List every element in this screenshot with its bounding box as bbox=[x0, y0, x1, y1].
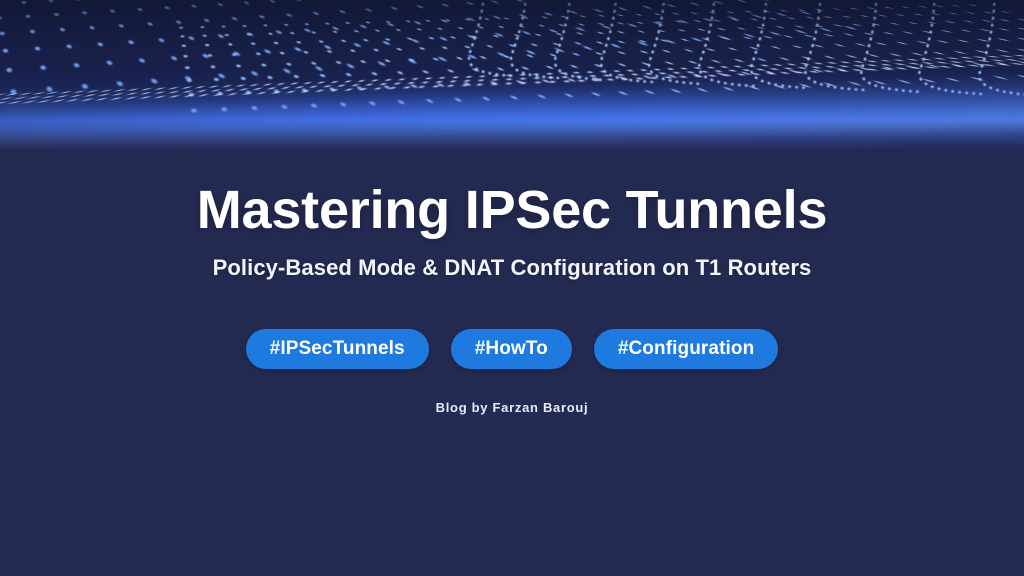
tag-ipsectunnels[interactable]: #IPSecTunnels bbox=[246, 329, 429, 369]
page-subtitle: Policy-Based Mode & DNAT Configuration o… bbox=[0, 255, 1024, 281]
page-title: Mastering IPSec Tunnels bbox=[0, 182, 1024, 238]
title-slide: Mastering IPSec Tunnels Policy-Based Mod… bbox=[0, 0, 1024, 576]
tag-list: #IPSecTunnels #HowTo #Configuration bbox=[0, 329, 1024, 369]
author-byline: Blog by Farzan Barouj bbox=[0, 400, 1024, 415]
tag-configuration[interactable]: #Configuration bbox=[594, 329, 779, 369]
tag-howto[interactable]: #HowTo bbox=[451, 329, 572, 369]
banner-fade bbox=[0, 120, 1024, 150]
content-block: Mastering IPSec Tunnels Policy-Based Mod… bbox=[0, 150, 1024, 576]
banner-particle-wave bbox=[0, 0, 1024, 150]
